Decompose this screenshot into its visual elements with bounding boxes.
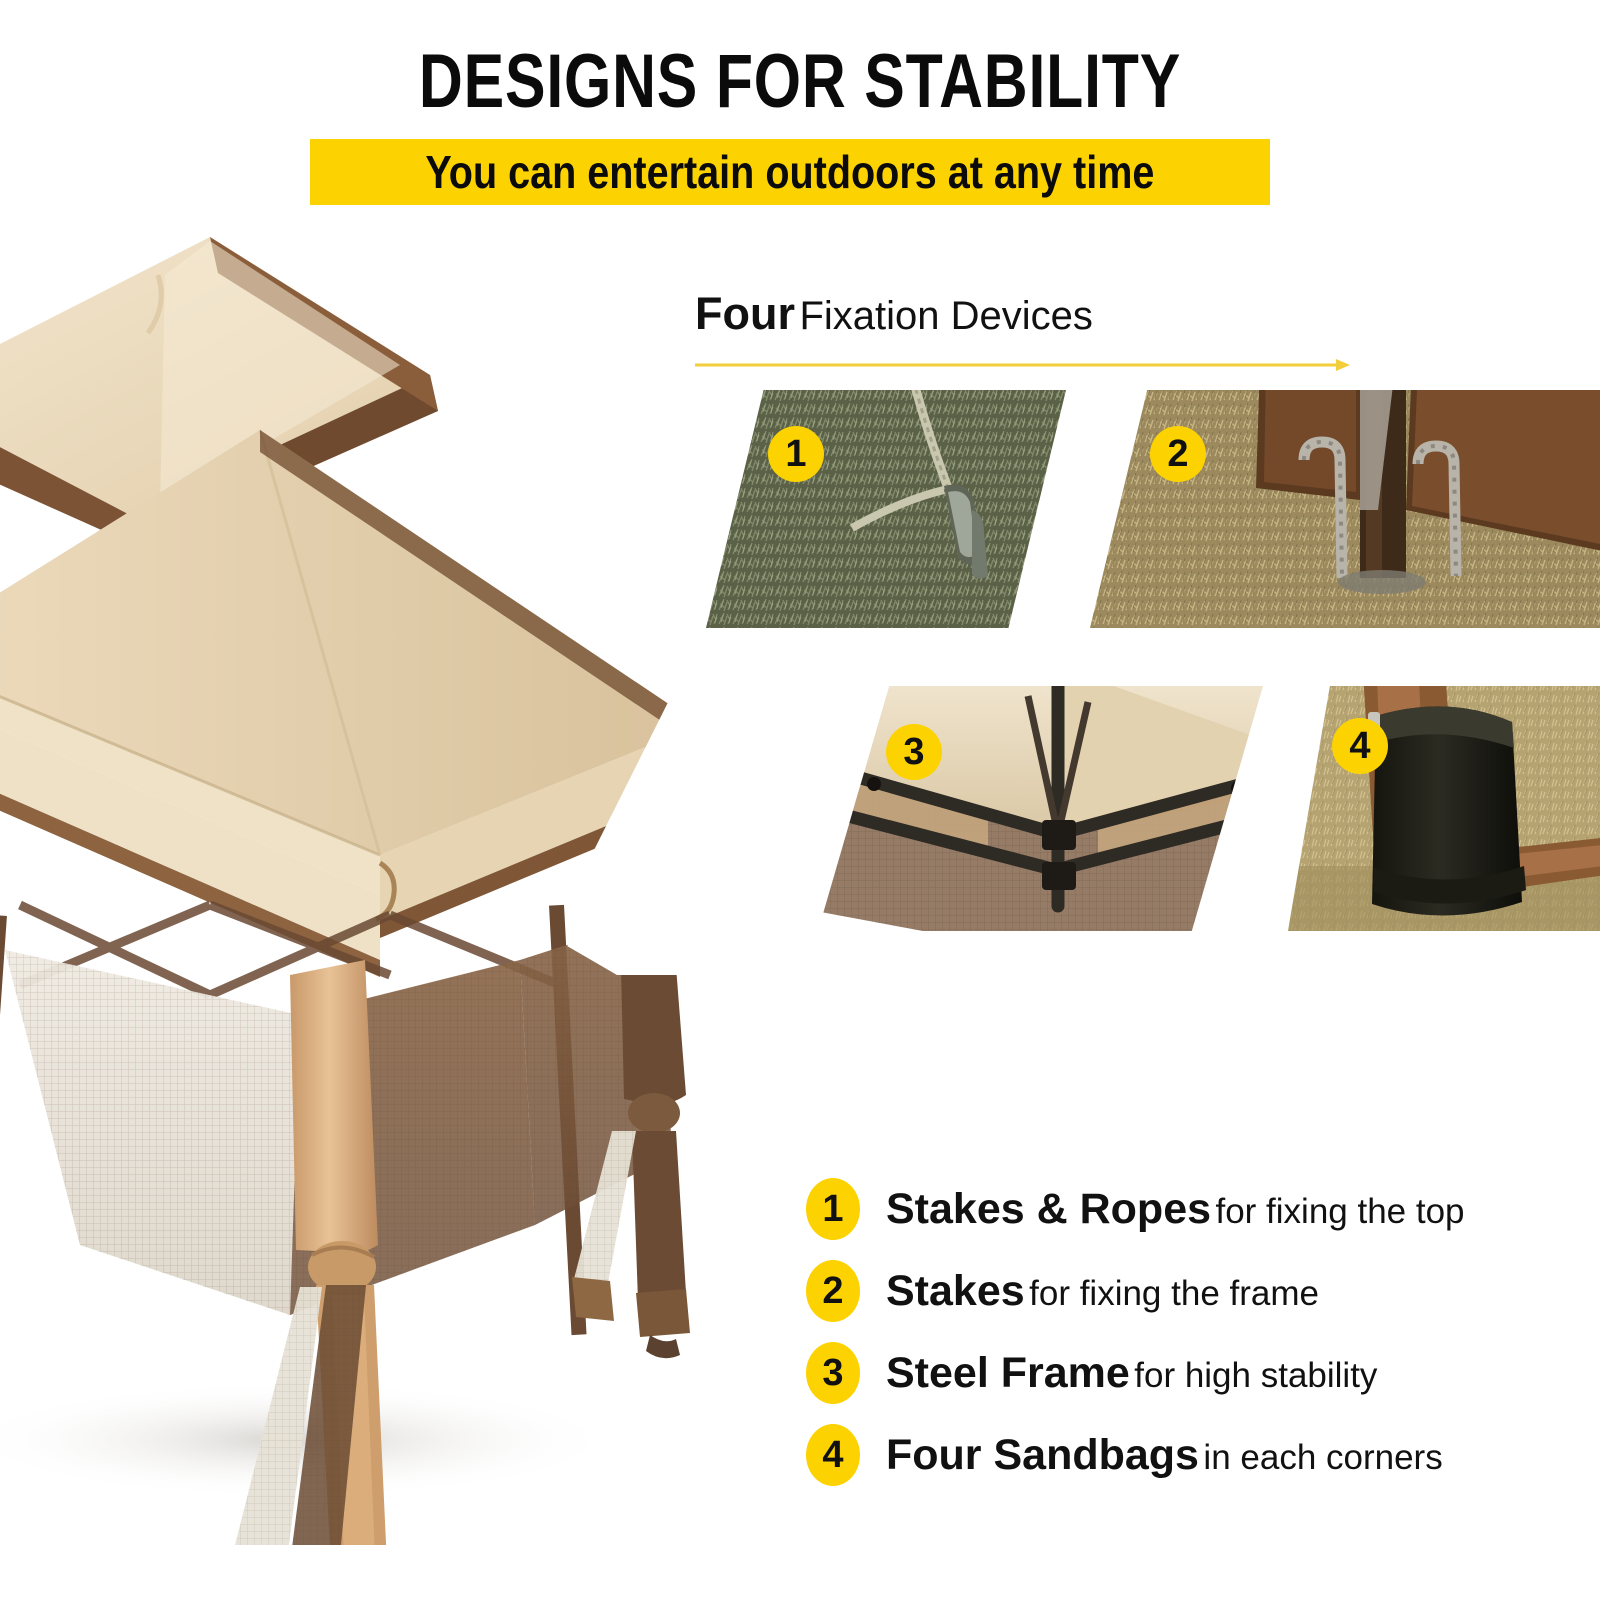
legend-title-2: Stakes: [886, 1267, 1025, 1315]
photo-tile-1: 1: [706, 390, 1066, 628]
photo-badge-4: 4: [1332, 718, 1388, 774]
card-heading: Four Fixation Devices: [695, 288, 1093, 340]
legend-desc-2: for fixing the frame: [1029, 1274, 1319, 1313]
legend-desc-1: for fixing the top: [1215, 1192, 1464, 1231]
photo-badge-1: 1: [768, 426, 824, 482]
legend-list: 1 Stakes & Ropes for fixing the top 2 St…: [806, 1168, 1586, 1496]
infographic-canvas: DESIGNS FOR STABILITY You can entertain …: [0, 0, 1600, 1600]
legend-item-4: 4 Four Sandbags in each corners: [806, 1414, 1586, 1496]
legend-badge-4: 4: [806, 1424, 860, 1486]
card-heading-light: Fixation Devices: [799, 294, 1092, 338]
right-arrow-icon: [695, 358, 1350, 372]
photo-tile-4: 4: [1288, 686, 1600, 931]
legend-text-4: Four Sandbags in each corners: [886, 1431, 1443, 1480]
legend-item-3: 3 Steel Frame for high stability: [806, 1332, 1586, 1414]
photo-badge-2: 2: [1150, 426, 1206, 482]
legend-badge-3: 3: [806, 1342, 860, 1404]
legend-badge-2: 2: [806, 1260, 860, 1322]
legend-badge-1: 1: [806, 1178, 860, 1240]
subtitle-banner: You can entertain outdoors at any time: [310, 139, 1270, 205]
legend-title-4: Four Sandbags: [886, 1431, 1199, 1479]
subtitle-text: You can entertain outdoors at any time: [425, 145, 1154, 199]
legend-text-1: Stakes & Ropes for fixing the top: [886, 1185, 1465, 1234]
legend-desc-4: in each corners: [1203, 1438, 1442, 1477]
legend-item-1: 1 Stakes & Ropes for fixing the top: [806, 1168, 1586, 1250]
legend-text-2: Stakes for fixing the frame: [886, 1267, 1319, 1316]
card-heading-strong: Four: [695, 288, 795, 339]
photo-tile-2: 2: [1090, 390, 1600, 628]
legend-text-3: Steel Frame for high stability: [886, 1349, 1377, 1398]
legend-item-2: 2 Stakes for fixing the frame: [806, 1250, 1586, 1332]
page-title: DESIGNS FOR STABILITY: [160, 38, 1440, 125]
photo-tile-3: 3: [818, 686, 1263, 931]
legend-title-3: Steel Frame: [886, 1349, 1130, 1397]
legend-title-1: Stakes & Ropes: [886, 1185, 1211, 1233]
legend-desc-3: for high stability: [1134, 1356, 1377, 1395]
photo-badge-3: 3: [886, 724, 942, 780]
